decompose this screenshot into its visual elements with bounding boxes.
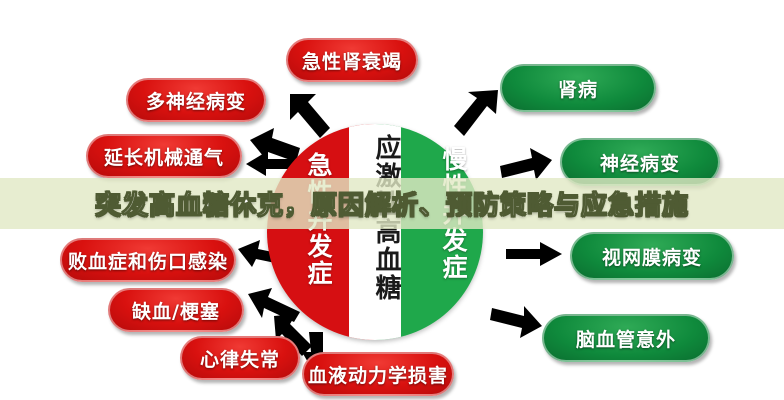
node-hemodynamic-impairment[interactable]: 血液动力学损害 [302, 352, 454, 396]
node-ischemia-infarction[interactable]: 缺血/梗塞 [108, 288, 244, 332]
node-polyneuropathy[interactable]: 多神经病变 [126, 78, 266, 122]
node-prolonged-ventilation[interactable]: 延长机械通气 [86, 134, 242, 178]
diagram-canvas: 急性并发症 应激性高血糖 慢性并发症 急性肾衰竭 多神经病变 延长机械通气 败血… [0, 0, 784, 400]
node-cerebrovascular-accident[interactable]: 脑血管意外 [542, 314, 710, 362]
arrow-to-cerebrovascular-accident [488, 300, 544, 340]
node-acute-renal-failure[interactable]: 急性肾衰竭 [286, 38, 418, 82]
node-nephropathy[interactable]: 肾病 [500, 64, 656, 112]
node-arrhythmia[interactable]: 心律失常 [180, 336, 300, 380]
node-sepsis-wound-infection[interactable]: 败血症和伤口感染 [60, 238, 236, 282]
page-title: 突发高血糖休克，原因解析、预防策略与应急措施 [95, 185, 689, 222]
arrow-to-retinopathy [504, 240, 564, 268]
node-retinopathy[interactable]: 视网膜病变 [570, 232, 734, 280]
title-overlay-band: 突发高血糖休克，原因解析、预防策略与应急措施 [0, 178, 784, 229]
